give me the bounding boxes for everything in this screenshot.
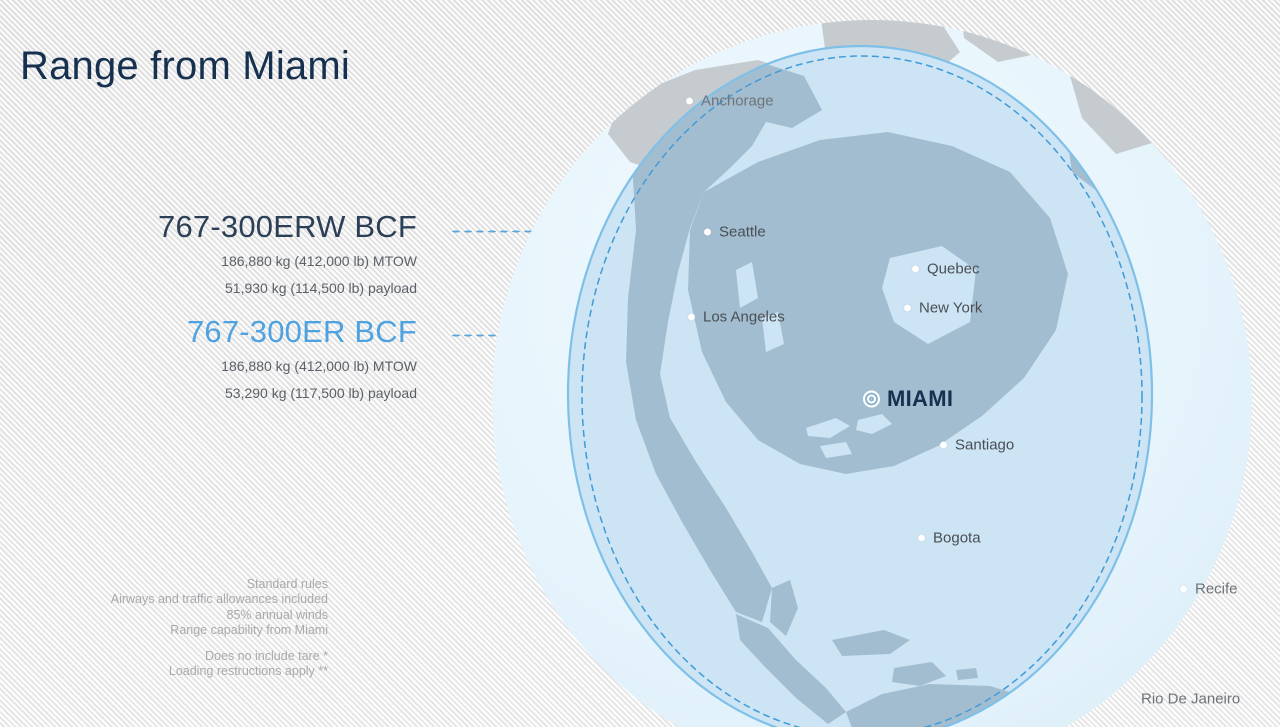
- legend-mtow: 186,880 kg (412,000 lb) MTOW: [0, 356, 417, 378]
- city-label: Rio De Janeiro: [1141, 691, 1240, 708]
- footnote-line: Airways and traffic allowances included: [0, 592, 328, 607]
- city-marker-dot: [686, 98, 693, 105]
- city-label: Santiago: [955, 437, 1014, 454]
- footnote-line: Loading restructions apply **: [0, 664, 328, 679]
- footnote-line: 85% annual winds: [0, 608, 328, 623]
- legend-payload: 51,930 kg (114,500 lb) payload: [0, 278, 417, 300]
- slide-canvas: Range from Miami 767-300ERW BCF 186,880 …: [0, 0, 1280, 727]
- city-label: New York: [919, 300, 982, 317]
- city-marker-dot: [912, 266, 919, 273]
- city-marker-dot: [904, 305, 911, 312]
- city-label: Quebec: [927, 261, 980, 278]
- origin-bullseye-icon: [863, 391, 880, 408]
- origin-label: MIAMI: [887, 386, 953, 412]
- city-marker-dot: [688, 314, 695, 321]
- legend-model-name: 767-300ERW BCF: [0, 209, 417, 245]
- city-label: Recife: [1195, 581, 1238, 598]
- city-label: Seattle: [719, 224, 766, 241]
- footnote-line: Range capability from Miami: [0, 623, 328, 638]
- globe-graphic: [490, 22, 1280, 727]
- footnotes: Standard rules Airways and traffic allow…: [0, 577, 328, 680]
- legend-entry-767-300erw-bcf: 767-300ERW BCF 186,880 kg (412,000 lb) M…: [0, 209, 417, 300]
- footnote-line: Standard rules: [0, 577, 328, 592]
- city-marker-dot: [704, 229, 711, 236]
- city-marker-dot: [918, 535, 925, 542]
- range-map: Anchorage Seattle Quebec New York Los An…: [490, 22, 1280, 727]
- city-label: Bogota: [933, 530, 981, 547]
- city-marker-dot: [940, 442, 947, 449]
- legend-entry-767-300er-bcf: 767-300ER BCF 186,880 kg (412,000 lb) MT…: [0, 314, 417, 405]
- legend-model-name: 767-300ER BCF: [0, 314, 417, 350]
- footnote-spacer: [0, 638, 328, 649]
- footnote-line: Does no include tare *: [0, 649, 328, 664]
- legend-mtow: 186,880 kg (412,000 lb) MTOW: [0, 251, 417, 273]
- city-label: Anchorage: [701, 93, 774, 110]
- legend-payload: 53,290 kg (117,500 lb) payload: [0, 383, 417, 405]
- city-label: Los Angeles: [703, 309, 785, 326]
- page-title: Range from Miami: [20, 44, 350, 89]
- city-marker-dot: [1180, 586, 1187, 593]
